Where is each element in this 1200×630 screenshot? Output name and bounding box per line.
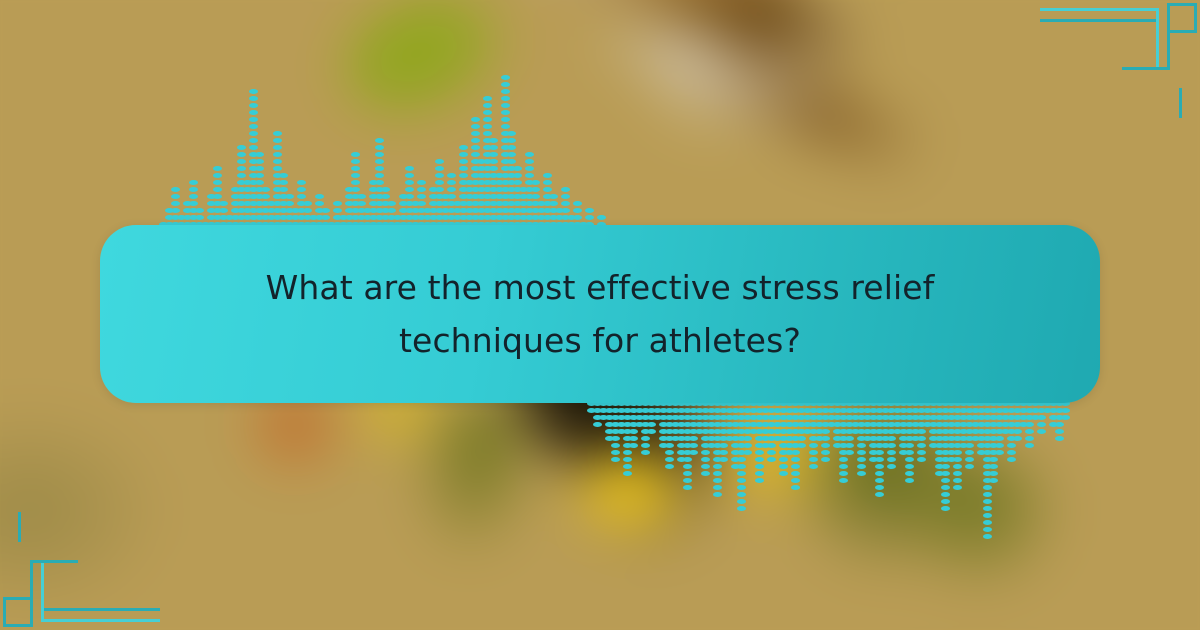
waveform-dot (665, 450, 674, 455)
waveform-dot (351, 152, 360, 157)
waveform-dot (189, 201, 198, 206)
waveform-dot (857, 464, 866, 469)
waveform-dot (489, 138, 498, 143)
waveform-dot (683, 471, 692, 476)
waveform-dot (1037, 415, 1046, 420)
audio-waveform-bottom (588, 400, 1068, 492)
waveform-dot (1007, 443, 1016, 448)
waveform-dot (435, 166, 444, 171)
waveform-dot (543, 173, 552, 178)
waveform-dot (755, 471, 764, 476)
waveform-dot (683, 464, 692, 469)
corner-bar-h-inner (44, 608, 160, 611)
waveform-dot (719, 443, 728, 448)
waveform-dot (755, 478, 764, 483)
waveform-dot (351, 180, 360, 185)
waveform-dot (525, 159, 534, 164)
waveform-dot (375, 159, 384, 164)
corner-bar-h-outer (44, 619, 160, 622)
waveform-dot (459, 152, 468, 157)
waveform-dot (953, 457, 962, 462)
waveform-dot (189, 187, 198, 192)
waveform-dot (905, 464, 914, 469)
waveform-dot (713, 492, 722, 497)
waveform-dot (405, 173, 414, 178)
waveform-dot (213, 187, 222, 192)
waveform-dot (417, 187, 426, 192)
waveform-dot (1025, 443, 1034, 448)
waveform-dot (513, 166, 522, 171)
waveform-dot (821, 443, 830, 448)
waveform-dot (713, 464, 722, 469)
waveform-dot (513, 173, 522, 178)
waveform-dot (1013, 429, 1022, 434)
waveform-dot (597, 215, 606, 220)
waveform-dot (501, 82, 510, 87)
waveform-dot (905, 450, 914, 455)
waveform-dot (357, 194, 366, 199)
waveform-dot (213, 180, 222, 185)
waveform-dot (483, 124, 492, 129)
waveform-dot (1061, 408, 1070, 413)
waveform-dot (875, 478, 884, 483)
waveform-dot (905, 457, 914, 462)
corner-bar-v-tick (1179, 88, 1182, 118)
waveform-dot (249, 103, 258, 108)
waveform-dot (965, 457, 974, 462)
waveform-dot (285, 201, 294, 206)
waveform-dot (375, 152, 384, 157)
waveform-dot (585, 215, 594, 220)
waveform-dot (501, 110, 510, 115)
waveform-dot (471, 124, 480, 129)
waveform-dot (983, 485, 992, 490)
waveform-dot (953, 471, 962, 476)
waveform-dot (665, 457, 674, 462)
waveform-dot (249, 110, 258, 115)
waveform-dot (839, 464, 848, 469)
waveform-dot (641, 450, 650, 455)
waveform-dot (1025, 429, 1034, 434)
waveform-dot (471, 117, 480, 122)
waveform-dot (381, 187, 390, 192)
waveform-dot (273, 152, 282, 157)
waveform-dot (471, 152, 480, 157)
waveform-dot (255, 152, 264, 157)
waveform-dot (623, 450, 632, 455)
waveform-dot (189, 194, 198, 199)
waveform-dot (743, 443, 752, 448)
waveform-dot (213, 166, 222, 171)
waveform-dot (995, 443, 1004, 448)
waveform-dot (261, 194, 270, 199)
corner-bar-h-outer (1040, 8, 1156, 11)
waveform-dot (641, 436, 650, 441)
waveform-dot (845, 450, 854, 455)
waveform-dot (489, 166, 498, 171)
waveform-dot (1025, 422, 1034, 427)
waveform-dot (375, 180, 384, 185)
waveform-dot (513, 180, 522, 185)
waveform-dot (737, 478, 746, 483)
background-blob-green-leaf (324, 0, 527, 142)
waveform-dot (845, 436, 854, 441)
waveform-dot (821, 436, 830, 441)
waveform-dot (237, 159, 246, 164)
waveform-dot (875, 492, 884, 497)
waveform-dot (435, 159, 444, 164)
waveform-dot (875, 464, 884, 469)
waveform-dot (447, 187, 456, 192)
waveform-dot (489, 145, 498, 150)
waveform-dot (561, 208, 570, 213)
waveform-dot (1025, 436, 1034, 441)
waveform-dot (321, 208, 330, 213)
waveform-dot (471, 145, 480, 150)
waveform-dot (719, 450, 728, 455)
waveform-dot (941, 485, 950, 490)
waveform-dot (983, 520, 992, 525)
waveform-dot (809, 443, 818, 448)
waveform-dot (195, 215, 204, 220)
waveform-dot (965, 464, 974, 469)
waveform-dot (779, 457, 788, 462)
waveform-dot (875, 471, 884, 476)
question-card: What are the most effective stress relie… (100, 225, 1100, 403)
waveform-dot (701, 464, 710, 469)
waveform-dot (683, 485, 692, 490)
waveform-dot (719, 457, 728, 462)
waveform-dot (989, 464, 998, 469)
waveform-dot (249, 124, 258, 129)
waveform-dot (507, 145, 516, 150)
waveform-dot (701, 450, 710, 455)
waveform-dot (917, 457, 926, 462)
waveform-dot (213, 173, 222, 178)
waveform-dot (357, 201, 366, 206)
waveform-dot (983, 513, 992, 518)
waveform-dot (1007, 450, 1016, 455)
waveform-dot (279, 180, 288, 185)
waveform-dot (297, 180, 306, 185)
waveform-dot (821, 429, 830, 434)
waveform-dot (273, 138, 282, 143)
waveform-dot (755, 450, 764, 455)
waveform-dot (459, 166, 468, 171)
waveform-dot (333, 208, 342, 213)
waveform-dot (917, 443, 926, 448)
waveform-dot (531, 180, 540, 185)
waveform-dot (507, 152, 516, 157)
waveform-dot (941, 478, 950, 483)
waveform-dot (507, 159, 516, 164)
waveform-dot (525, 152, 534, 157)
waveform-dot (249, 117, 258, 122)
waveform-dot (375, 166, 384, 171)
waveform-dot (983, 492, 992, 497)
waveform-dot (1037, 429, 1046, 434)
waveform-dot (713, 478, 722, 483)
waveform-dot (917, 429, 926, 434)
waveform-dot (501, 117, 510, 122)
waveform-dot (755, 464, 764, 469)
waveform-dot (1055, 436, 1064, 441)
corner-bar-v-outer (1156, 8, 1159, 70)
waveform-dot (405, 194, 414, 199)
waveform-dot (273, 159, 282, 164)
waveform-dot (857, 471, 866, 476)
waveform-dot (995, 436, 1004, 441)
waveform-dot (629, 436, 638, 441)
waveform-dot (501, 124, 510, 129)
waveform-dot (237, 145, 246, 150)
waveform-dot (417, 201, 426, 206)
waveform-dot (989, 457, 998, 462)
waveform-dot (791, 457, 800, 462)
waveform-dot (387, 201, 396, 206)
waveform-dot (821, 457, 830, 462)
waveform-dot (713, 485, 722, 490)
waveform-dot (195, 208, 204, 213)
waveform-dot (255, 180, 264, 185)
waveform-dot (755, 457, 764, 462)
waveform-dot (285, 194, 294, 199)
waveform-dot (905, 443, 914, 448)
waveform-dot (737, 464, 746, 469)
waveform-dot (887, 443, 896, 448)
waveform-dot (1037, 422, 1046, 427)
waveform-dot (273, 145, 282, 150)
waveform-dot (857, 457, 866, 462)
waveform-dot (791, 464, 800, 469)
waveform-dot (779, 464, 788, 469)
waveform-dot (279, 187, 288, 192)
waveform-dot (483, 103, 492, 108)
waveform-dot (171, 187, 180, 192)
corner-bracket-bottom-left (0, 512, 160, 630)
waveform-dot (459, 145, 468, 150)
waveform-dot (887, 464, 896, 469)
waveform-dot (623, 457, 632, 462)
waveform-dot (507, 131, 516, 136)
waveform-dot (737, 457, 746, 462)
waveform-dot (435, 187, 444, 192)
waveform-dot (779, 471, 788, 476)
waveform-dot (995, 450, 1004, 455)
waveform-dot (375, 138, 384, 143)
waveform-dot (791, 485, 800, 490)
waveform-dot (647, 429, 656, 434)
waveform-dot (351, 187, 360, 192)
waveform-dot (689, 450, 698, 455)
waveform-dot (531, 187, 540, 192)
waveform-dot (417, 194, 426, 199)
waveform-dot (941, 464, 950, 469)
waveform-dot (171, 208, 180, 213)
waveform-dot (941, 492, 950, 497)
question-text: What are the most effective stress relie… (240, 261, 960, 368)
waveform-dot (713, 471, 722, 476)
waveform-dot (623, 471, 632, 476)
waveform-dot (405, 187, 414, 192)
waveform-dot (809, 450, 818, 455)
waveform-dot (531, 194, 540, 199)
waveform-dot (351, 173, 360, 178)
waveform-dot (797, 443, 806, 448)
waveform-dot (525, 166, 534, 171)
corner-bracket-top-right (1040, 0, 1200, 118)
waveform-dot (501, 75, 510, 80)
waveform-dot (573, 215, 582, 220)
waveform-dot (1055, 422, 1064, 427)
corner-bar-h-short (30, 560, 78, 563)
waveform-dot (965, 443, 974, 448)
waveform-dot (965, 450, 974, 455)
waveform-dot (647, 422, 656, 427)
waveform-dot (489, 159, 498, 164)
waveform-dot (351, 159, 360, 164)
waveform-dot (887, 436, 896, 441)
waveform-dot (821, 450, 830, 455)
waveform-dot (387, 208, 396, 213)
waveform-dot (501, 89, 510, 94)
waveform-dot (501, 103, 510, 108)
waveform-dot (665, 443, 674, 448)
waveform-dot (321, 215, 330, 220)
waveform-dot (447, 194, 456, 199)
waveform-dot (351, 166, 360, 171)
waveform-dot (435, 180, 444, 185)
waveform-dot (665, 464, 674, 469)
waveform-dot (917, 450, 926, 455)
waveform-dot (297, 194, 306, 199)
waveform-dot (857, 450, 866, 455)
waveform-dot (561, 201, 570, 206)
waveform-dot (405, 166, 414, 171)
waveform-dot (471, 138, 480, 143)
waveform-dot (611, 450, 620, 455)
waveform-dot (623, 464, 632, 469)
waveform-dot (483, 131, 492, 136)
waveform-dot (237, 166, 246, 171)
waveform-dot (743, 450, 752, 455)
waveform-dot (887, 457, 896, 462)
waveform-dot (171, 194, 180, 199)
waveform-dot (791, 478, 800, 483)
waveform-dot (611, 457, 620, 462)
waveform-dot (839, 471, 848, 476)
corner-square (1167, 3, 1197, 33)
waveform-dot (213, 194, 222, 199)
waveform-dot (585, 208, 594, 213)
waveform-dot (417, 180, 426, 185)
waveform-dot (375, 145, 384, 150)
waveform-dot (501, 96, 510, 101)
waveform-dot (249, 89, 258, 94)
waveform-dot (315, 194, 324, 199)
waveform-dot (471, 131, 480, 136)
waveform-dot (483, 110, 492, 115)
waveform-dot (483, 117, 492, 122)
waveform-dot (375, 173, 384, 178)
waveform-dot (171, 201, 180, 206)
waveform-dot (573, 208, 582, 213)
corner-bar-v-tick (18, 512, 21, 542)
waveform-dot (845, 443, 854, 448)
waveform-dot (219, 201, 228, 206)
waveform-dot (1007, 457, 1016, 462)
corner-square (3, 597, 33, 627)
waveform-dot (983, 527, 992, 532)
waveform-dot (629, 443, 638, 448)
waveform-dot (941, 499, 950, 504)
waveform-dot (809, 457, 818, 462)
waveform-dot (255, 166, 264, 171)
waveform-dot (483, 96, 492, 101)
waveform-dot (249, 131, 258, 136)
waveform-dot (737, 485, 746, 490)
waveform-dot (543, 187, 552, 192)
waveform-dot (839, 478, 848, 483)
corner-bar-v-outer (41, 560, 44, 622)
waveform-dot (875, 457, 884, 462)
waveform-dot (249, 138, 258, 143)
waveform-dot (561, 194, 570, 199)
waveform-dot (917, 436, 926, 441)
waveform-dot (507, 138, 516, 143)
waveform-dot (983, 534, 992, 539)
waveform-dot (767, 457, 776, 462)
waveform-dot (683, 457, 692, 462)
waveform-dot (941, 506, 950, 511)
waveform-dot (689, 436, 698, 441)
waveform-dot (887, 450, 896, 455)
waveform-dot (255, 159, 264, 164)
corner-bar-h-inner (1040, 19, 1156, 22)
waveform-dot (989, 478, 998, 483)
waveform-dot (1013, 436, 1022, 441)
waveform-dot (279, 173, 288, 178)
waveform-dot (857, 443, 866, 448)
waveform-dot (737, 471, 746, 476)
waveform-dot (743, 436, 752, 441)
waveform-dot (905, 471, 914, 476)
waveform-dot (737, 506, 746, 511)
waveform-dot (273, 131, 282, 136)
corner-bar-h-short (1122, 67, 1170, 70)
waveform-dot (303, 201, 312, 206)
waveform-dot (255, 173, 264, 178)
waveform-dot (549, 194, 558, 199)
waveform-dot (791, 450, 800, 455)
waveform-dot (737, 499, 746, 504)
waveform-dot (549, 201, 558, 206)
waveform-dot (237, 173, 246, 178)
waveform-dot (941, 471, 950, 476)
waveform-dot (767, 450, 776, 455)
waveform-dot (381, 194, 390, 199)
waveform-dot (683, 478, 692, 483)
waveform-dot (701, 457, 710, 462)
waveform-dot (573, 201, 582, 206)
waveform-dot (875, 450, 884, 455)
slide-canvas: What are the most effective stress relie… (0, 0, 1200, 630)
waveform-dot (701, 471, 710, 476)
waveform-dot (459, 173, 468, 178)
waveform-dot (989, 471, 998, 476)
waveform-dot (273, 166, 282, 171)
waveform-dot (629, 429, 638, 434)
